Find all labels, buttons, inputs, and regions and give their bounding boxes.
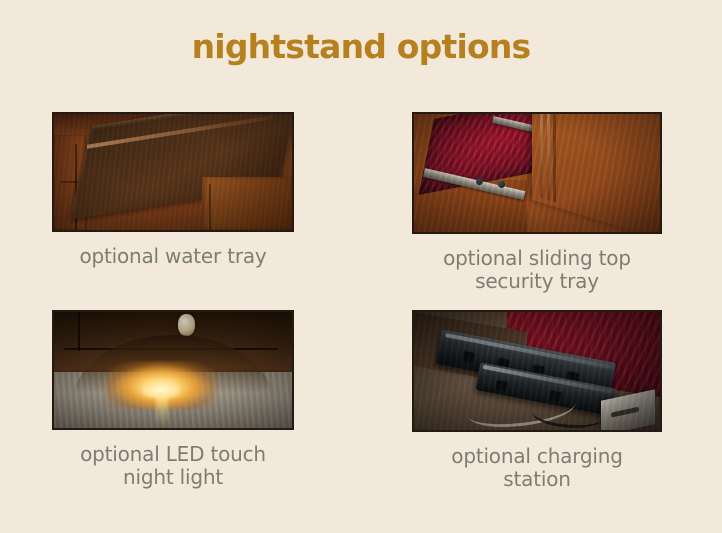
caption-sliding-top-security-tray: optional sliding top security tray	[412, 247, 662, 292]
caption-line-2: security tray	[412, 270, 662, 293]
option-card-sliding-top-security-tray[interactable]: optional sliding top security tray	[412, 112, 662, 292]
photo-vignette	[54, 114, 292, 230]
caption-line-1: optional charging	[412, 445, 662, 468]
photo-frame-led-night-light[interactable]	[52, 310, 294, 430]
caption-charging-station: optional charging station	[412, 445, 662, 490]
photo-led-touch-night-light	[54, 312, 292, 428]
caption-line-1: optional sliding top	[412, 247, 662, 270]
photo-vignette	[414, 114, 660, 232]
nightstand-options-page: nightstand options optional water tr	[0, 0, 722, 533]
photo-frame-charging-station[interactable]	[412, 310, 662, 432]
caption-line-1: optional water tray	[52, 245, 294, 268]
caption-line-2: night light	[52, 466, 294, 489]
options-grid: optional water tray	[0, 105, 722, 505]
caption-water-tray: optional water tray	[52, 245, 294, 268]
page-title-text: nightstand options	[192, 27, 531, 66]
photo-water-tray	[54, 114, 292, 230]
page-title: nightstand options	[0, 30, 722, 63]
photo-frame-water-tray[interactable]	[52, 112, 294, 232]
option-card-charging-station[interactable]: optional charging station	[412, 310, 662, 490]
photo-frame-sliding-top[interactable]	[412, 112, 662, 234]
caption-line-1: optional LED touch	[52, 443, 294, 466]
option-card-led-touch-night-light[interactable]: optional LED touch night light	[52, 310, 294, 488]
caption-led-touch-night-light: optional LED touch night light	[52, 443, 294, 488]
photo-charging-station	[414, 312, 660, 430]
caption-line-2: station	[412, 468, 662, 491]
photo-vignette	[414, 312, 660, 430]
option-card-water-tray[interactable]: optional water tray	[52, 112, 294, 268]
photo-vignette	[54, 312, 292, 428]
photo-sliding-top-security-tray	[414, 114, 660, 232]
